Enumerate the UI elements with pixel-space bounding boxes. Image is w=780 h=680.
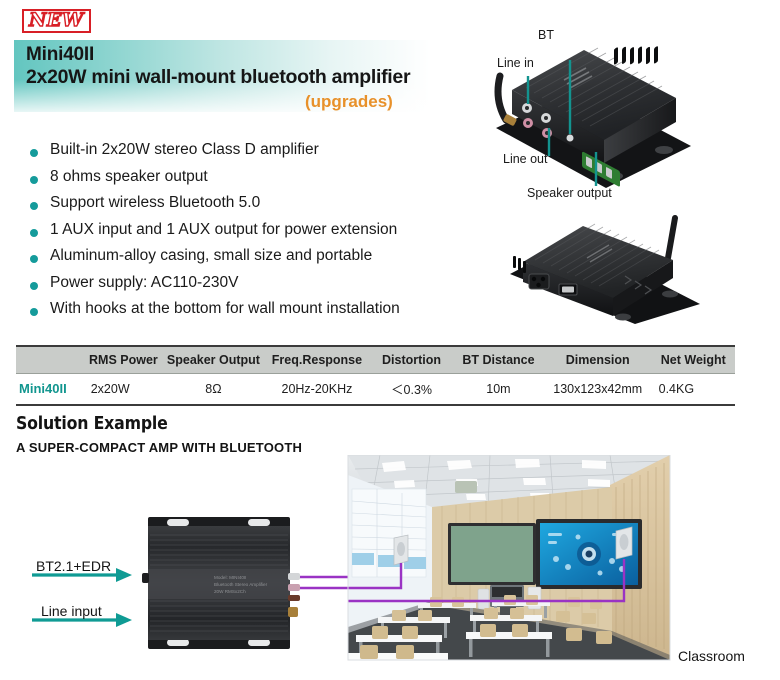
callout-label-speaker-output: Speaker output xyxy=(527,186,612,200)
svg-text:20W RMSx2Ch: 20W RMSx2Ch xyxy=(214,589,246,594)
col-header-bt-distance: BT Distance xyxy=(453,346,544,374)
col-header-freq-response: Freq.Response xyxy=(264,346,370,374)
bullet-dot-icon xyxy=(30,308,38,316)
product-model-name: Mini40II xyxy=(26,44,94,66)
col-header-net-weight: Net Weight xyxy=(652,346,735,374)
list-item: Aluminum-alloy casing, small size and po… xyxy=(30,247,480,274)
feature-text: Built-in 2x20W stereo Class D amplifier xyxy=(50,141,319,159)
classroom-photo xyxy=(348,455,670,660)
table-header-row: RMS Power Speaker Output Freq.Response D… xyxy=(16,346,735,374)
bullet-dot-icon xyxy=(30,149,38,157)
solution-subtitle: A SUPER-COMPACT AMP WITH BLUETOOTH xyxy=(16,440,302,455)
arrow-label-line-input: Line input xyxy=(41,603,102,619)
list-item: 8 ohms speaker output xyxy=(30,168,480,195)
table-row: Mini40II 2x20W 8Ω 20Hz-20KHz ＜0.3% 10m 1… xyxy=(16,374,735,406)
bullet-dot-icon xyxy=(30,282,38,290)
svg-text:Model: MINI40II: Model: MINI40II xyxy=(214,575,246,580)
new-badge-label: NEW xyxy=(29,11,84,30)
new-badge: NEW xyxy=(22,9,91,33)
product-datasheet-page: NEW Mini40II 2x20W mini wall-mount bluet… xyxy=(0,0,780,675)
solution-diagram: Model: MINI40II Bluetooth Stereo Amplifi… xyxy=(0,455,780,675)
list-item: With hooks at the bottom for wall mount … xyxy=(30,300,480,327)
list-item: 1 AUX input and 1 AUX output for power e… xyxy=(30,221,480,248)
feature-text: Power supply: AC110-230V xyxy=(50,274,238,292)
cell-speaker-output: 8Ω xyxy=(163,374,264,406)
svg-text:Bluetooth Stereo Amplifier: Bluetooth Stereo Amplifier xyxy=(214,582,268,587)
arrow-label-bt: BT2.1+EDR xyxy=(36,558,111,574)
bullet-dot-icon xyxy=(30,255,38,263)
list-item: Support wireless Bluetooth 5.0 xyxy=(30,194,480,221)
wall-speaker-right xyxy=(616,527,632,559)
col-header-rms-power: RMS Power xyxy=(84,346,163,374)
feature-text: Support wireless Bluetooth 5.0 xyxy=(50,194,260,212)
col-header-dimension: Dimension xyxy=(544,346,652,374)
cell-dimension: 130x123x42mm xyxy=(544,374,652,406)
amplifier-illustration: Model: MINI40II Bluetooth Stereo Amplifi… xyxy=(142,517,300,649)
cell-rms-power: 2x20W xyxy=(84,374,163,406)
cell-bt-distance: 10m xyxy=(453,374,544,406)
wall-speaker-left xyxy=(394,535,408,565)
list-item: Built-in 2x20W stereo Class D amplifier xyxy=(30,141,480,168)
cell-net-weight: 0.4KG xyxy=(652,374,735,406)
callout-label-line-in: Line in xyxy=(497,56,534,70)
callout-label-line-out: Line out xyxy=(503,152,547,166)
bullet-dot-icon xyxy=(30,202,38,210)
solution-title: Solution Example xyxy=(16,414,168,434)
feature-text: 8 ohms speaker output xyxy=(50,168,208,186)
list-item: Power supply: AC110-230V xyxy=(30,274,480,301)
feature-text: Aluminum-alloy casing, small size and po… xyxy=(50,247,372,265)
col-header-blank xyxy=(16,346,84,374)
product-headline: 2x20W mini wall-mount bluetooth amplifie… xyxy=(26,66,410,89)
bullet-dot-icon xyxy=(30,176,38,184)
cell-model: Mini40II xyxy=(16,374,84,406)
classroom-label: Classroom xyxy=(678,648,745,664)
col-header-speaker-output: Speaker Output xyxy=(163,346,264,374)
feature-text: 1 AUX input and 1 AUX output for power e… xyxy=(50,221,397,239)
spec-table: RMS Power Speaker Output Freq.Response D… xyxy=(16,345,735,406)
bullet-dot-icon xyxy=(30,229,38,237)
cell-distortion: ＜0.3% xyxy=(370,374,453,406)
cell-freq-response: 20Hz-20KHz xyxy=(264,374,370,406)
product-photo-front xyxy=(486,28,776,208)
product-photo-rear xyxy=(505,212,775,324)
feature-list: Built-in 2x20W stereo Class D amplifier … xyxy=(30,141,480,327)
upgrades-tag: (upgrades) xyxy=(305,92,393,112)
col-header-distortion: Distortion xyxy=(370,346,453,374)
feature-text: With hooks at the bottom for wall mount … xyxy=(50,300,400,318)
callout-label-bt: BT xyxy=(538,28,554,42)
